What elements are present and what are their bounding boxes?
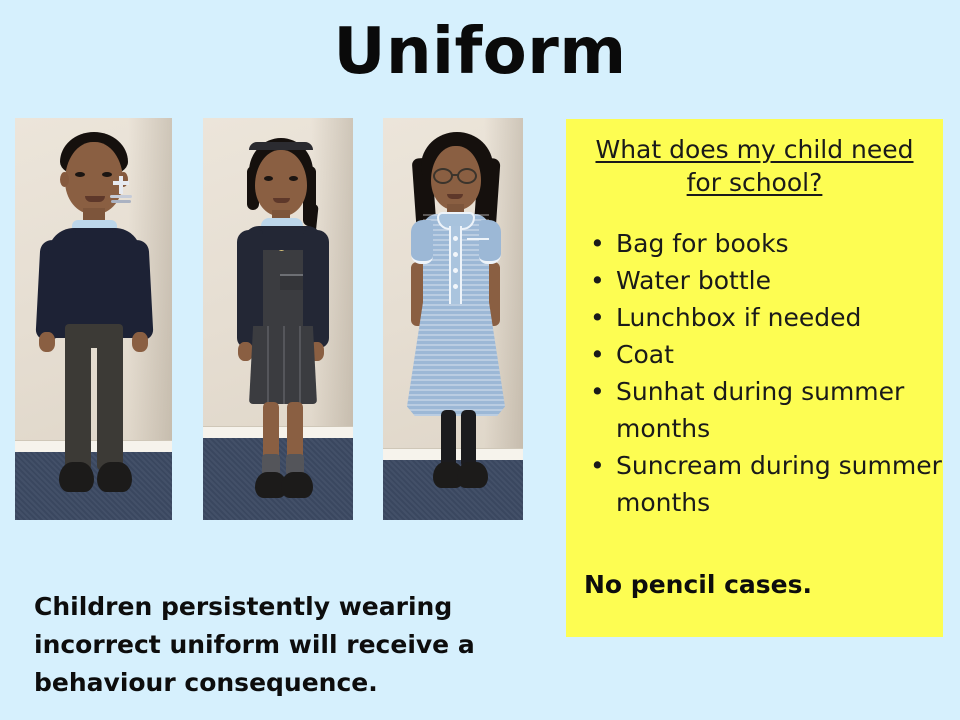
bullet-icon: • bbox=[590, 336, 605, 373]
list-item-label: Water bottle bbox=[616, 266, 771, 295]
dress-pocket bbox=[467, 238, 489, 254]
photo-girl-in-pinafore bbox=[203, 118, 353, 520]
trouser-leg-left bbox=[65, 332, 91, 470]
ear-left bbox=[60, 172, 69, 187]
glasses-icon bbox=[433, 168, 453, 184]
figure-boy bbox=[15, 118, 172, 520]
photo-girl-in-summer-dress bbox=[383, 118, 523, 520]
leg-right bbox=[287, 402, 303, 460]
mouth bbox=[447, 194, 463, 199]
bullet-icon: • bbox=[590, 447, 605, 484]
list-item: • Coat bbox=[584, 336, 943, 373]
needs-heading: What does my child need for school? bbox=[584, 133, 925, 199]
needs-callout-box: What does my child need for school? • Ba… bbox=[566, 119, 943, 637]
hand-left bbox=[238, 342, 253, 361]
list-item: • Bag for books bbox=[584, 225, 943, 262]
headband bbox=[249, 142, 313, 150]
no-pencil-cases-note: No pencil cases. bbox=[584, 569, 812, 601]
figure-girl-dress bbox=[383, 118, 523, 520]
dress-button bbox=[453, 236, 458, 241]
list-item: • Suncream during summer months bbox=[584, 447, 943, 521]
list-item-label: Suncream during summer months bbox=[616, 451, 942, 517]
list-item-label: Sunhat during summer months bbox=[616, 377, 904, 443]
skirt-pleat bbox=[283, 326, 285, 404]
skirt-pleat bbox=[267, 326, 269, 404]
figure-girl-pinafore bbox=[203, 118, 353, 520]
tights-leg-left bbox=[441, 410, 456, 468]
dress-button bbox=[453, 268, 458, 273]
hand-left bbox=[39, 332, 55, 352]
behaviour-consequence-note: Children persistently wearing incorrect … bbox=[34, 588, 534, 702]
head bbox=[255, 150, 307, 216]
list-item-label: Lunchbox if needed bbox=[616, 303, 861, 332]
eye-left bbox=[75, 172, 85, 177]
bullet-icon: • bbox=[590, 225, 605, 262]
needs-list: • Bag for books • Water bottle • Lunchbo… bbox=[584, 225, 943, 521]
dress-sleeve-left bbox=[411, 220, 433, 264]
shoe-right bbox=[97, 462, 132, 492]
eye-right bbox=[289, 176, 298, 181]
glasses-icon bbox=[457, 168, 477, 184]
school-crest-icon bbox=[110, 176, 132, 202]
eye-left bbox=[264, 176, 273, 181]
list-item: • Sunhat during summer months bbox=[584, 373, 943, 447]
shoe-left bbox=[59, 462, 94, 492]
dress-skirt bbox=[407, 298, 505, 416]
hand-right bbox=[132, 332, 148, 352]
list-item: • Lunchbox if needed bbox=[584, 299, 943, 336]
photo-boy-in-jumper bbox=[15, 118, 172, 520]
mouth bbox=[273, 198, 290, 203]
trouser-leg-right bbox=[97, 332, 123, 470]
shoe-right bbox=[457, 462, 488, 488]
skirt-pleat bbox=[299, 326, 301, 404]
dress-button bbox=[453, 252, 458, 257]
shoe-right bbox=[281, 472, 313, 498]
slide-canvas: Uniform bbox=[0, 0, 960, 720]
list-item: • Water bottle bbox=[584, 262, 943, 299]
page-title: Uniform bbox=[0, 14, 960, 90]
navy-jumper bbox=[48, 228, 141, 338]
bullet-icon: • bbox=[590, 262, 605, 299]
tights-leg-right bbox=[461, 410, 476, 468]
leg-left bbox=[263, 402, 279, 460]
bullet-icon: • bbox=[590, 373, 605, 410]
mouth bbox=[85, 196, 105, 202]
glasses-bridge bbox=[452, 174, 459, 176]
bullet-icon: • bbox=[590, 299, 605, 336]
list-item-label: Coat bbox=[616, 340, 674, 369]
dress-button bbox=[453, 284, 458, 289]
list-item-label: Bag for books bbox=[616, 229, 789, 258]
